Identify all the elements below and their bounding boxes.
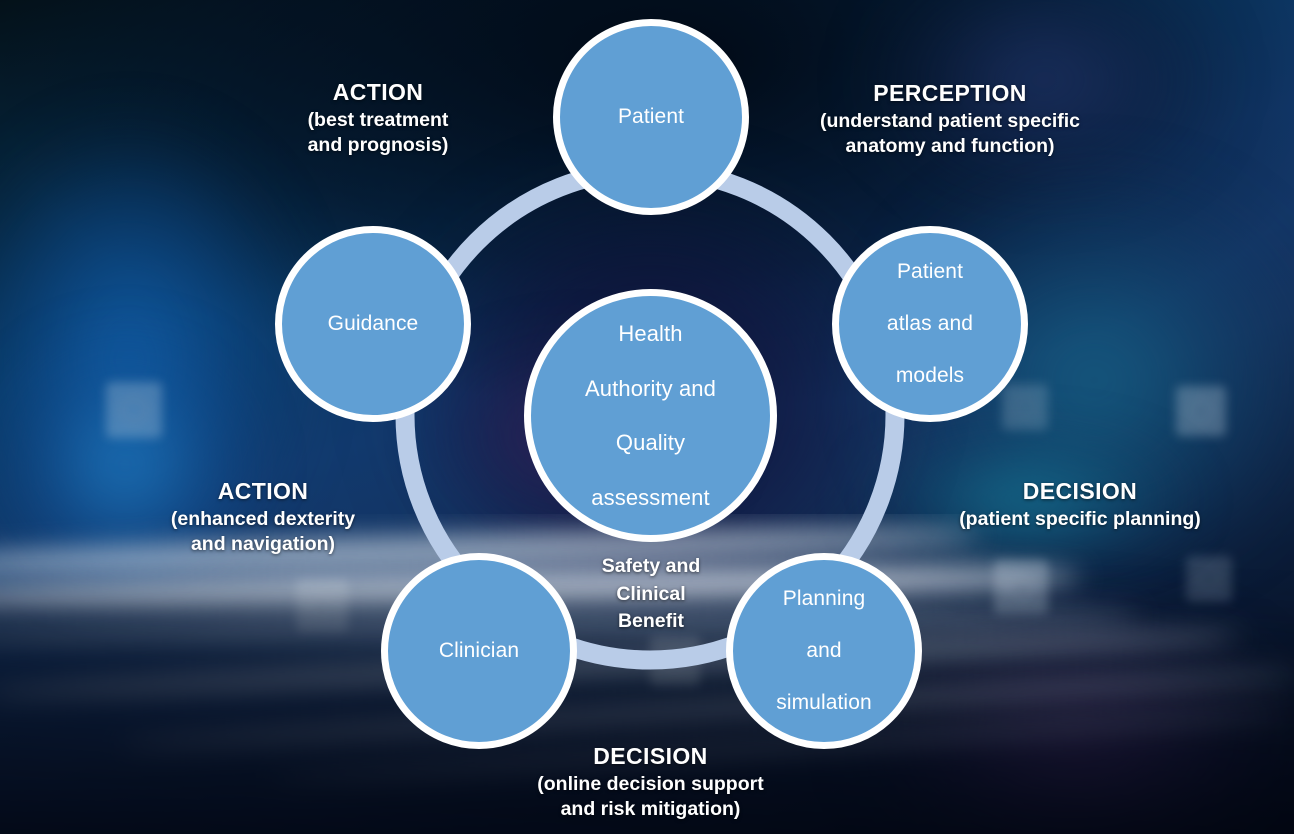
node-health-authority-quality[interactable]: Health Authority and Quality assessment <box>524 289 777 542</box>
label-decision-bottom-sub1: (online decision support <box>498 772 803 797</box>
label-decision-right: DECISION (patient specific planning) <box>930 477 1230 532</box>
diagram-canvas: Patient Patient atlas and models Plannin… <box>0 0 1294 834</box>
label-action-top-left: ACTION (best treatment and prognosis) <box>253 78 503 159</box>
label-action-left-heading: ACTION <box>138 477 388 507</box>
line-4: assessment <box>575 484 726 511</box>
label-decision-right-heading: DECISION <box>930 477 1230 507</box>
node-planning-simulation[interactable]: Planning and simulation <box>726 553 922 749</box>
line-3: simulation <box>766 690 882 716</box>
line-2: Authority and <box>575 375 726 402</box>
label-perception-sub2: anatomy and function) <box>790 134 1110 159</box>
line-3: Quality <box>575 429 726 456</box>
node-planning-simulation-label: Planning and simulation <box>756 586 892 716</box>
line-2: Clinical <box>616 583 685 605</box>
node-guidance-label: Guidance <box>318 311 429 337</box>
line-1: Safety and <box>602 555 701 577</box>
label-action-left-sub2: and navigation) <box>138 532 388 557</box>
line-1: Health <box>575 320 726 347</box>
label-action-top-left-sub1: (best treatment <box>253 108 503 133</box>
node-patient-atlas[interactable]: Patient atlas and models <box>832 226 1028 422</box>
label-action-left: ACTION (enhanced dexterity and navigatio… <box>138 477 388 558</box>
node-clinician[interactable]: Clinician <box>381 553 577 749</box>
line-1: Patient <box>877 259 983 285</box>
line-3: models <box>877 363 983 389</box>
label-action-top-left-heading: ACTION <box>253 78 503 108</box>
label-perception-sub1: (understand patient specific <box>790 109 1110 134</box>
node-patient-label: Patient <box>608 104 694 130</box>
label-decision-bottom-heading: DECISION <box>498 742 803 772</box>
node-patient[interactable]: Patient <box>553 19 749 215</box>
line-2: and <box>766 638 882 664</box>
label-decision-bottom: DECISION (online decision support and ri… <box>498 742 803 823</box>
label-perception-top-right: PERCEPTION (understand patient specific … <box>790 79 1110 160</box>
line-3: Benefit <box>618 610 684 632</box>
label-action-top-left-sub2: and prognosis) <box>253 133 503 158</box>
label-perception-heading: PERCEPTION <box>790 79 1110 109</box>
node-guidance[interactable]: Guidance <box>275 226 471 422</box>
node-clinician-label: Clinician <box>429 638 529 664</box>
center-caption-safety-clinical-benefit: Safety and Clinical Benefit <box>556 553 746 636</box>
label-decision-right-sub1: (patient specific planning) <box>930 507 1230 532</box>
label-action-left-sub1: (enhanced dexterity <box>138 507 388 532</box>
node-health-authority-quality-label: Health Authority and Quality assessment <box>565 320 736 511</box>
line-1: Planning <box>766 586 882 612</box>
label-decision-bottom-sub2: and risk mitigation) <box>498 797 803 822</box>
node-patient-atlas-label: Patient atlas and models <box>867 259 993 389</box>
line-2: atlas and <box>877 311 983 337</box>
